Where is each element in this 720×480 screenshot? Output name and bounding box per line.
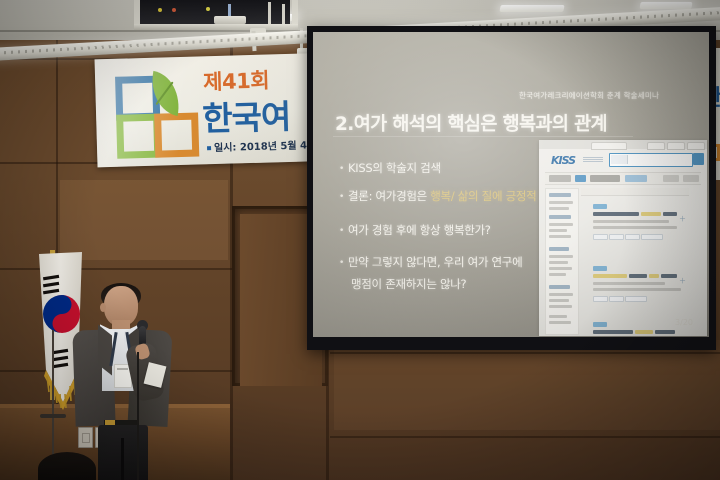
slide-bullet: •여가 경험 후에 항상 행복한가? [339, 222, 491, 238]
bullet-dot-icon: • [339, 226, 344, 236]
result-action-chip[interactable] [625, 234, 640, 240]
slide-bullet: •만약 그렇지 않다면, 우리 여가 연구에 [339, 254, 522, 270]
kiss-nav-item-active[interactable] [575, 175, 586, 182]
seminar-room-photo: 제41회 한국여 일시: 2018년 5월 4일(금) 오 한 한국여가레크리에… [0, 0, 720, 480]
presenter-ear [100, 303, 106, 312]
filter-group-header [549, 215, 571, 219]
filter-item[interactable] [549, 261, 568, 264]
kiss-nav-bar [545, 172, 701, 185]
bullet-text: KISS의 학술지 검색 [348, 161, 441, 175]
flag-trigram-bottom [52, 349, 68, 369]
panel-seam [330, 436, 720, 438]
cable [268, 2, 271, 24]
result-type-badge [593, 204, 607, 209]
result-title[interactable] [663, 212, 677, 216]
result-meta [593, 226, 677, 229]
result-title[interactable] [593, 212, 639, 216]
result-title-highlight [649, 274, 659, 278]
result-title[interactable] [593, 330, 633, 334]
slide-bullet-continuation: 맹점이 존재하지는 않나? [351, 276, 466, 292]
result-title[interactable] [629, 274, 647, 278]
kiss-nav-item[interactable] [663, 175, 679, 182]
result-title[interactable] [655, 330, 675, 334]
filter-item[interactable] [549, 223, 573, 226]
result-action-chip[interactable] [609, 296, 624, 302]
search-result-item[interactable]: ＋ [581, 204, 689, 252]
result-title-highlight [641, 212, 661, 216]
presenter-leg-gap [121, 438, 124, 480]
kiss-search-scope-select[interactable] [611, 155, 628, 164]
kiss-website-screenshot: KISS [539, 140, 707, 336]
result-title[interactable] [661, 274, 677, 278]
result-action-chip[interactable] [625, 296, 647, 302]
results-sort-bar[interactable] [581, 188, 689, 196]
result-action-chip[interactable] [593, 234, 608, 240]
kiss-nav-item[interactable] [590, 175, 620, 182]
audience-member-head [38, 452, 96, 480]
kiss-search-button[interactable] [693, 153, 704, 165]
filter-item[interactable] [549, 293, 573, 296]
bullet-text: 맹점이 존재하지는 않나? [351, 277, 466, 291]
browser-tab [591, 142, 627, 150]
result-title-highlight [635, 330, 653, 334]
filter-item[interactable] [549, 321, 571, 324]
filter-item[interactable] [549, 255, 573, 258]
filter-group-header [549, 193, 571, 197]
slide-page-number: 3/20 [675, 318, 693, 327]
kiss-nav-item[interactable] [683, 175, 699, 182]
kiss-logo-subtitle [583, 156, 603, 162]
slide-title-rule [333, 136, 633, 137]
filter-item[interactable] [549, 299, 569, 302]
kiss-filter-sidebar[interactable] [545, 188, 579, 335]
equipment-led-icon [172, 8, 176, 12]
microphone-stand-base [40, 414, 66, 418]
filter-group-header [549, 247, 569, 251]
result-action-chip[interactable] [593, 296, 608, 302]
microphone-cable [137, 352, 139, 480]
kiss-nav-item[interactable] [549, 175, 571, 182]
search-result-item[interactable] [581, 322, 689, 336]
filter-item[interactable] [549, 267, 572, 270]
rack-post [134, 0, 140, 26]
projection-screen: 한국여가레크리에이션학회 춘계 학술세미나 2.여가 해석의 핵심은 행복과의 … [313, 32, 709, 337]
browser-tab [667, 142, 685, 150]
rack-post [292, 0, 298, 26]
flag-trigram-top [43, 275, 59, 295]
result-meta [593, 220, 669, 223]
result-type-badge [593, 322, 607, 327]
event-banner: 제41회 한국여 일시: 2018년 5월 4일(금) 오 [95, 53, 338, 168]
cable [282, 4, 285, 24]
bullet-dot-icon: • [339, 192, 344, 202]
bullet-text: 만약 그렇지 않다면, 우리 여가 연구에 [348, 255, 522, 269]
slide-header: 한국여가레크리에이션학회 춘계 학술세미나 [519, 90, 659, 101]
ceiling-light-icon [499, 5, 564, 12]
bullet-text: 여가 경험 후에 항상 행복한가? [348, 223, 491, 237]
filter-item[interactable] [549, 315, 567, 318]
filter-item[interactable] [549, 235, 571, 238]
badge-line [117, 368, 128, 370]
result-expand-icon[interactable]: ＋ [679, 276, 686, 286]
projector-icon [214, 16, 246, 24]
bullet-dot-icon: • [339, 164, 344, 174]
bullet-highlight-text: 행복/ 삶의 질에 긍정적 [430, 189, 536, 203]
filter-group-header [549, 285, 570, 289]
equipment-led-icon [158, 8, 162, 12]
slide-bullet: •결론: 여가경험은 행복/ 삶의 질에 긍정적 [339, 188, 536, 204]
kiss-nav-item[interactable] [625, 175, 647, 182]
equipment-led-icon [206, 7, 210, 11]
result-meta [593, 282, 665, 285]
result-meta [593, 288, 681, 291]
search-result-item[interactable]: ＋ [581, 266, 689, 314]
filter-item[interactable] [549, 207, 569, 210]
result-action-chip[interactable] [609, 234, 624, 240]
result-type-badge [593, 266, 607, 271]
result-action-chip[interactable] [641, 234, 663, 240]
slide-bullet: •KISS의 학술지 검색 [339, 160, 441, 176]
filter-item[interactable] [549, 305, 572, 308]
ceiling-light-icon [639, 2, 692, 9]
filter-item[interactable] [549, 229, 567, 232]
rack-shelf [134, 24, 298, 30]
browser-tab [687, 142, 705, 150]
bullet-text: 결론: 여가경험은 [348, 189, 430, 203]
presenter [74, 286, 178, 480]
filter-item[interactable] [549, 201, 573, 204]
filter-item[interactable] [549, 273, 566, 276]
bullet-dot-icon: • [339, 258, 344, 268]
kiss-logo: KISS [551, 154, 575, 167]
result-expand-icon[interactable]: ＋ [679, 214, 686, 224]
panel-highlight [60, 180, 228, 260]
kiss-results-list: ＋ ＋ [581, 188, 689, 333]
panel-seam [330, 352, 720, 354]
result-title-highlight [593, 274, 627, 278]
banner-sheen [95, 53, 338, 168]
kiss-search-input[interactable] [609, 153, 693, 167]
browser-tab [647, 142, 665, 150]
slide-title: 2.여가 해석의 핵심은 행복과의 관계 [335, 110, 607, 136]
